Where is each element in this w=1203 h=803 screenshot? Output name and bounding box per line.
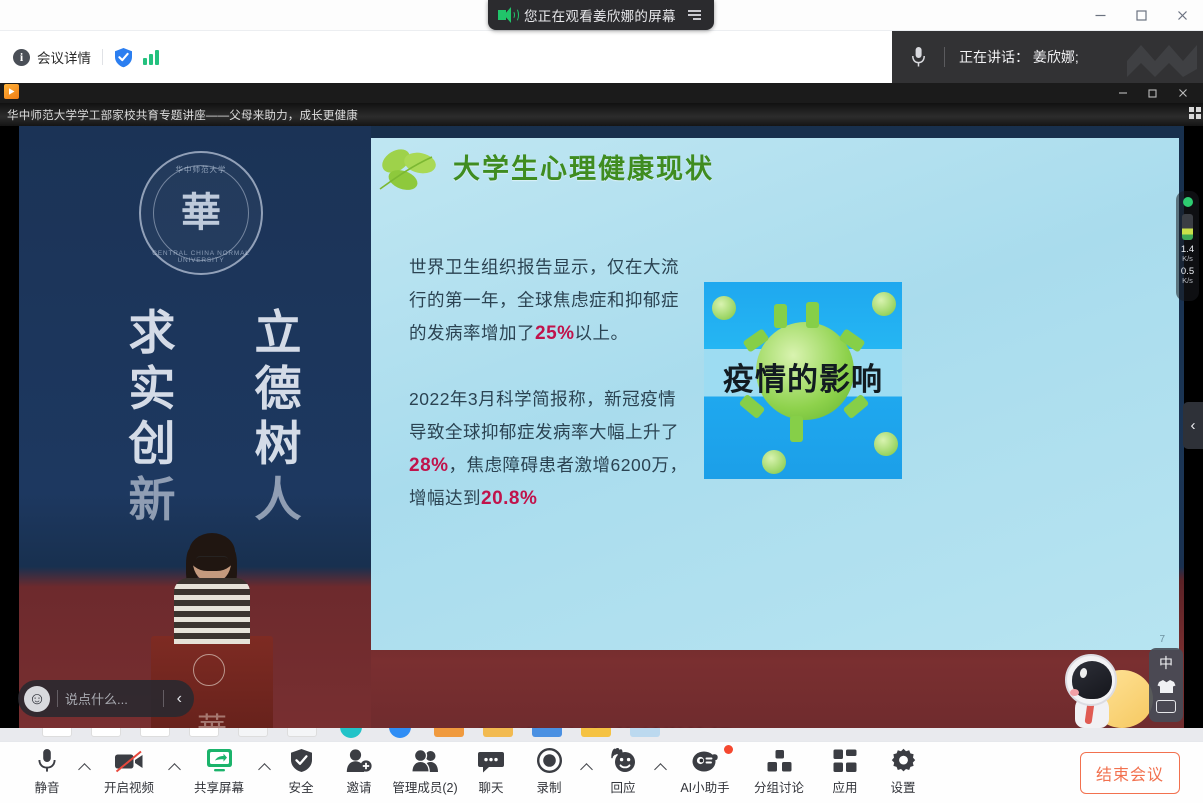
live-subtitle: 也是世卫组织的科学简报 <box>19 721 1184 728</box>
upload-speed: 0.5 K/s <box>1181 267 1194 284</box>
university-logo: 华中师范大学 華 CENTRAL CHINA NORMAL UNIVERSITY <box>139 151 263 275</box>
ai-robot-icon <box>691 746 720 773</box>
stage-banner: 华中师范大学 華 CENTRAL CHINA NORMAL UNIVERSITY… <box>19 126 371 728</box>
media-player-icon <box>4 84 19 99</box>
breakout-button[interactable]: 分组讨论 <box>742 746 816 799</box>
mute-label: 静音 <box>34 777 59 796</box>
slide-image-virus: 疫情的影响 <box>704 282 902 479</box>
chat-button[interactable]: 聊天 <box>462 746 520 799</box>
meeting-details-label: 会议详情 <box>37 47 91 67</box>
camera-off-icon <box>114 746 144 773</box>
participants-label: 管理成员(2) <box>392 777 457 796</box>
meeting-toolbar: i 会议详情 正在讲话： 姜欣娜; <box>0 31 1203 83</box>
participants-button[interactable]: 管理成员(2) <box>388 746 462 799</box>
motto-char: 实 <box>115 364 189 418</box>
presentation-slide: 大学生心理健康现状 世界卫生组织报告显示，仅在大流行的第一年，全球焦虑症和抑郁症… <box>371 138 1179 650</box>
shield-check-icon[interactable] <box>114 47 133 68</box>
shared-app-titlebar <box>0 83 1203 103</box>
astronaut-mascot-icon[interactable] <box>1061 654 1147 728</box>
podium-emblem <box>193 654 225 686</box>
meeting-window: i 会议详情 正在讲话： 姜欣娜; <box>0 0 1203 803</box>
motto-wall: 求 立 实 德 创 树 新 人 <box>115 308 315 528</box>
close-icon[interactable] <box>1177 87 1189 99</box>
record-label: 录制 <box>536 777 561 796</box>
logo-arc-bottom: CENTRAL CHINA NORMAL UNIVERSITY <box>141 250 261 264</box>
ime-panel[interactable]: 中 <box>1149 648 1183 722</box>
minimize-icon[interactable] <box>1117 87 1129 99</box>
record-options-caret[interactable] <box>578 753 594 799</box>
start-video-label: 开启视频 <box>104 777 154 796</box>
signal-bars-icon[interactable] <box>143 49 159 65</box>
panel-collapse-handle[interactable]: ‹ <box>1183 402 1203 449</box>
paragraph-2-highlight-2: 20.8% <box>481 488 537 509</box>
network-speed-indicator: 1.4 K/s 0.5 K/s <box>1176 191 1199 301</box>
shield-check-icon <box>290 746 313 773</box>
record-button[interactable]: 录制 <box>520 746 578 799</box>
paragraph-1-highlight: 25% <box>535 323 575 344</box>
shared-screen-region: 华中师范大学学工部家校共育专题讲座——父母来助力，成长更健康 华中师范大学 華 … <box>0 83 1203 728</box>
motto-char: 求 <box>115 308 189 362</box>
active-speaker-banner: 正在讲话： 姜欣娜; <box>892 31 1203 83</box>
invite-button[interactable]: 邀请 <box>330 746 388 799</box>
ai-assistant-label: AI小助手 <box>680 777 729 796</box>
reactions-button[interactable]: 回应 <box>594 746 652 799</box>
slide-paragraph-1: 世界卫生组织报告显示，仅在大流行的第一年，全球焦虑症和抑郁症的发病率增加了25%… <box>409 251 693 350</box>
screen-share-notice[interactable]: 您正在观看姜欣娜的屏幕 <box>488 0 714 30</box>
settings-button[interactable]: 设置 <box>874 746 932 799</box>
speaker-divider <box>944 47 945 67</box>
leaf-icon <box>376 145 446 195</box>
share-screen-options-caret[interactable] <box>256 753 272 799</box>
reactions-label: 回应 <box>610 777 635 796</box>
slide-paragraph-2: 2022年3月科学简报称，新冠疫情导致全球抑郁症发病率大幅上升了28%，焦虑障碍… <box>409 383 689 515</box>
signal-tube-icon <box>1182 214 1193 240</box>
download-speed: 1.4 K/s <box>1181 245 1194 262</box>
tshirt-icon[interactable] <box>1157 679 1176 694</box>
notification-badge <box>724 745 733 754</box>
paragraph-2-highlight-1: 28% <box>409 455 449 476</box>
active-speaker-label: 正在讲话： 姜欣娜; <box>959 47 1079 67</box>
reactions-options-caret[interactable] <box>652 753 668 799</box>
breakout-rooms-icon <box>767 746 792 773</box>
presenter-figure: 華 <box>169 538 255 673</box>
motto-char: 创 <box>115 419 189 473</box>
waveform-decoration <box>1127 39 1197 77</box>
ai-assistant-button[interactable]: AI小助手 <box>668 746 742 799</box>
motto-char: 树 <box>241 419 315 473</box>
quick-chat-bar[interactable]: ☺ 说点什么... ‹ <box>18 680 194 717</box>
screen-share-label: 您正在观看姜欣娜的屏幕 <box>524 5 676 25</box>
hamburger-menu-icon[interactable] <box>688 10 701 20</box>
emoji-icon[interactable]: ☺ <box>24 686 50 712</box>
settings-label: 设置 <box>890 777 915 796</box>
toolbar-divider <box>102 49 103 65</box>
security-label: 安全 <box>288 777 313 796</box>
restore-icon[interactable] <box>1147 87 1159 99</box>
security-button[interactable]: 安全 <box>272 746 330 799</box>
grid-icon[interactable] <box>1189 107 1201 119</box>
meeting-details-button[interactable]: i 会议详情 <box>0 47 91 67</box>
window-controls <box>1080 0 1203 31</box>
info-icon: i <box>13 49 30 66</box>
chevron-left-icon[interactable]: ‹ <box>171 690 188 708</box>
mute-button[interactable]: 静音 <box>18 746 76 799</box>
maximize-button[interactable] <box>1121 0 1162 31</box>
end-meeting-button[interactable]: 结束会议 <box>1080 752 1180 794</box>
invite-label: 邀请 <box>346 777 371 796</box>
paragraph-2-mid: ，焦虑障碍患者激增6200万，增幅达到 <box>409 455 687 508</box>
apps-button[interactable]: 应用 <box>816 746 874 799</box>
apps-grid-icon <box>833 746 857 773</box>
paragraph-1-tail: 以上。 <box>575 323 629 343</box>
share-screen-icon <box>206 746 233 773</box>
chat-bubble-icon <box>478 746 504 773</box>
microphone-icon <box>892 46 944 68</box>
share-screen-button[interactable]: 共享屏幕 <box>182 746 256 799</box>
chat-input-placeholder[interactable]: 说点什么... <box>65 689 156 708</box>
slide-page-number: 7 <box>1159 634 1165 645</box>
status-dot-green <box>1183 197 1193 207</box>
virus-caption: 疫情的影响 <box>704 354 902 399</box>
shared-window-controls <box>1117 83 1189 103</box>
motto-char: 新 <box>115 475 189 529</box>
start-video-button[interactable]: 开启视频 <box>92 746 166 799</box>
apps-label: 应用 <box>832 777 857 796</box>
microphone-icon <box>37 746 57 773</box>
share-screen-label: 共享屏幕 <box>194 777 244 796</box>
keyboard-icon[interactable] <box>1156 700 1176 713</box>
gear-icon <box>891 746 916 773</box>
logo-mark: 華 <box>181 195 221 231</box>
record-circle-icon <box>537 746 562 773</box>
mute-options-caret[interactable] <box>76 753 92 799</box>
motto-char: 人 <box>241 475 315 529</box>
meeting-controls-bar: 静音开启视频共享屏幕安全邀请管理成员(2)聊天录制回应AI小助手分组讨论应用设置… <box>0 741 1203 803</box>
paragraph-2-text: 2022年3月科学简报称，新冠疫情导致全球抑郁症发病率大幅上升了 <box>409 389 679 442</box>
motto-char: 德 <box>241 364 315 418</box>
start-video-options-caret[interactable] <box>166 753 182 799</box>
meeting-controls-list: 静音开启视频共享屏幕安全邀请管理成员(2)聊天录制回应AI小助手分组讨论应用设置 <box>0 746 932 799</box>
speaker-icon <box>498 7 516 23</box>
minimize-button[interactable] <box>1080 0 1121 31</box>
breakout-label: 分组讨论 <box>754 777 804 796</box>
close-button[interactable] <box>1162 0 1203 31</box>
ime-floating-widget[interactable]: 中 <box>1061 652 1201 722</box>
motto-char: 立 <box>241 308 315 362</box>
shared-document-title: 华中师范大学学工部家校共育专题讲座——父母来助力，成长更健康 <box>0 103 1203 126</box>
emoji-hand-icon <box>610 746 637 773</box>
slide-title: 大学生心理健康现状 <box>453 147 714 186</box>
add-person-icon <box>346 746 372 773</box>
video-stage: 华中师范大学 華 CENTRAL CHINA NORMAL UNIVERSITY… <box>19 126 1184 728</box>
logo-arc-top: 华中师范大学 <box>141 164 261 175</box>
ime-mode-label[interactable]: 中 <box>1159 653 1173 673</box>
chat-label: 聊天 <box>478 777 503 796</box>
people-icon <box>411 746 440 773</box>
